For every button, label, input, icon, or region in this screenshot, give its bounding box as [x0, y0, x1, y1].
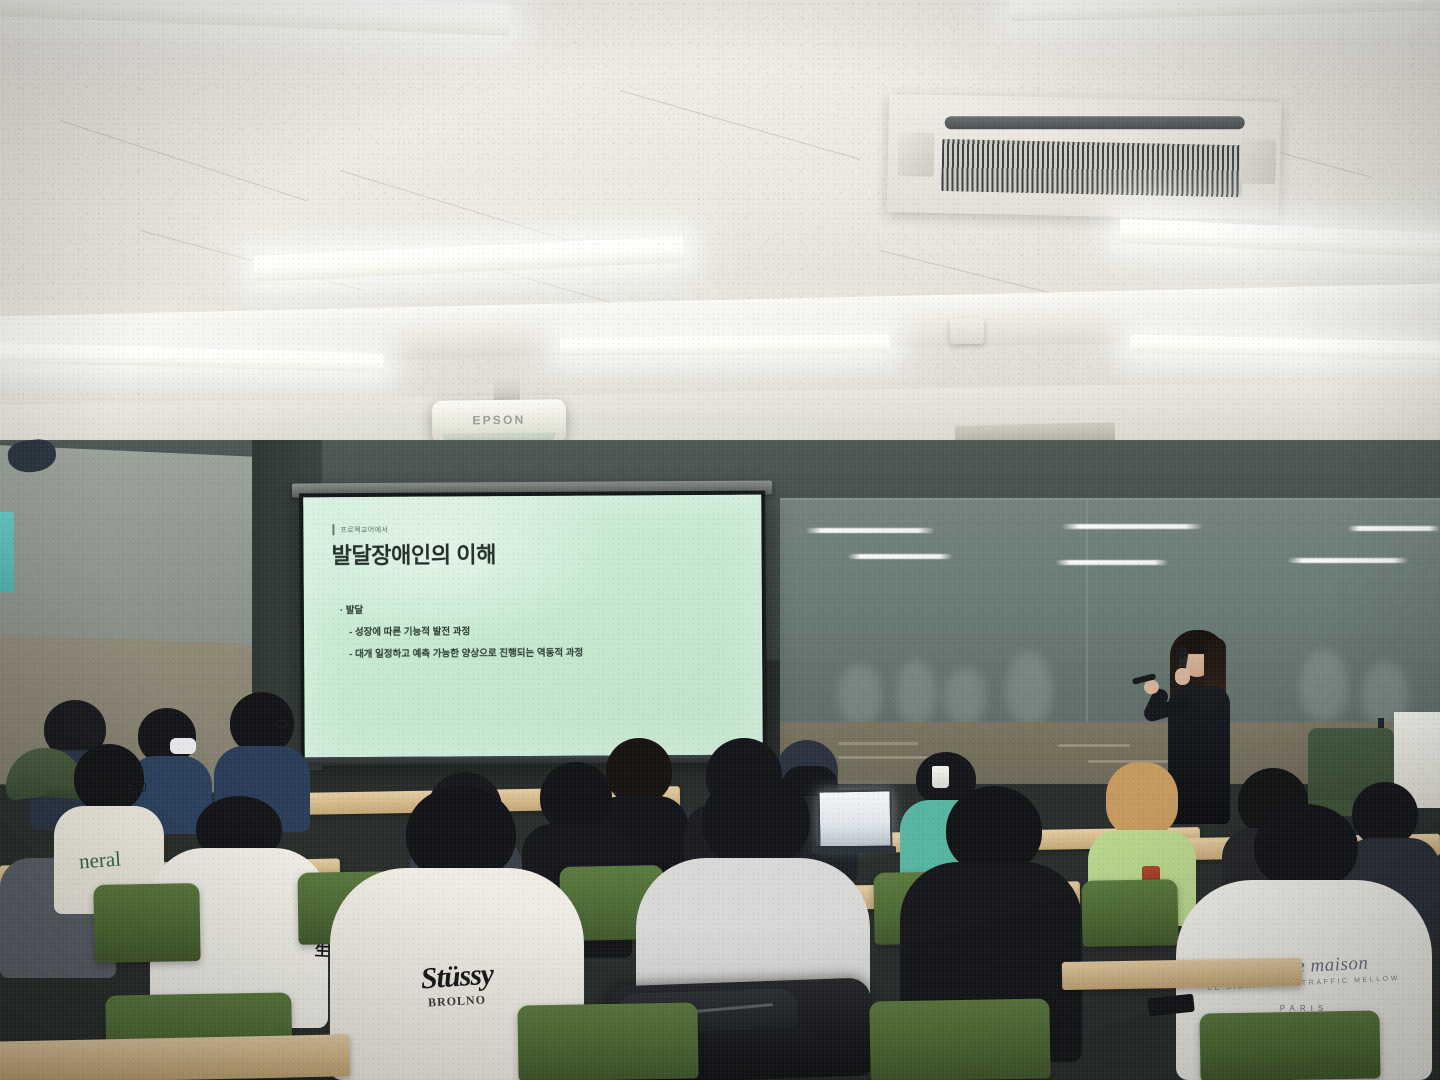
chair: [869, 998, 1050, 1080]
student-head: [1106, 762, 1178, 836]
slide-surface: 프로젝교어에서 발달장애인의 이해 · 발달 - 성장에 따른 기능적 발전 과…: [303, 495, 763, 758]
wall-sign: [0, 512, 14, 593]
slide-kicker-bar: [332, 524, 334, 535]
desk: [0, 1034, 350, 1080]
list-item: neral: [54, 744, 164, 904]
slide-bullet: · 발달: [340, 601, 583, 616]
chair: [93, 883, 200, 963]
bullet-text: 대개 일정하고 예측 가능한 양상으로 진행되는 역동적 과정: [355, 648, 583, 660]
slide-title: 발달장애인의 이해: [331, 537, 496, 570]
desk: [1062, 958, 1302, 990]
bullet-text: 발달: [346, 605, 364, 616]
ac-louver: [945, 116, 1245, 129]
glasses-icon: [276, 720, 288, 728]
shirt-graphic-text: Stüssy: [329, 951, 585, 1003]
lecture-hall-photo: EPSON 프로젝교어에서 발달장애인의 이해: [0, 0, 1440, 1080]
glasses-icon: [130, 782, 146, 792]
chair: [1199, 1010, 1380, 1080]
paper-cup: [932, 766, 949, 788]
reflection-silhouette: [896, 660, 936, 724]
reflected-ceiling-light: [1062, 524, 1202, 529]
slide-bullet-list: · 발달 - 성장에 따른 기능적 발전 과정 - 대개 일정하고 예측 가능한…: [340, 601, 583, 668]
ceiling-sensor: [950, 318, 984, 345]
ceiling-ac-cassette: [887, 94, 1281, 220]
face-mask: [170, 738, 196, 754]
bullet-text: 성장에 따른 기능적 발전 과정: [355, 626, 471, 638]
reflection-silhouette: [1300, 650, 1348, 720]
bullet-marker: -: [349, 649, 352, 660]
presenter-hand-mic: [1175, 668, 1190, 685]
reflection-silhouette: [944, 668, 986, 724]
reflected-ceiling-light: [1348, 526, 1440, 531]
dado-line: [1058, 744, 1130, 747]
student-head: [702, 772, 810, 868]
ac-grille: [941, 139, 1242, 197]
ceiling-light-fixture: [560, 334, 890, 355]
bullet-marker: -: [349, 627, 352, 638]
student-head: [1254, 804, 1358, 890]
student-head: [74, 744, 144, 812]
projection-screen: 프로젝교어에서 발달장애인의 이해 · 발달 - 성장에 따른 기능적 발전 과…: [299, 491, 767, 762]
projector-brand-label: EPSON: [432, 412, 566, 428]
chair: [517, 1002, 698, 1080]
reflection-silhouette: [1006, 652, 1052, 724]
slide-kicker: 프로젝교어에서: [332, 524, 388, 535]
reflected-ceiling-light: [1288, 558, 1408, 563]
microphone-head: [1176, 646, 1188, 658]
shirt-graphic-text: neral: [35, 844, 164, 878]
chair: [1081, 879, 1178, 947]
slide-kicker-text: 프로젝교어에서: [340, 524, 388, 534]
reflection-silhouette: [838, 664, 882, 724]
student-head: [946, 786, 1042, 874]
slide-bullet: - 성장에 따른 기능적 발전 과정: [349, 623, 583, 638]
bullet-marker: ·: [340, 605, 343, 616]
reflected-ceiling-light: [806, 528, 934, 533]
panel-divider: [1086, 498, 1088, 724]
slide-bullet: - 대개 일정하고 예측 가능한 양상으로 진행되는 역동적 과정: [349, 645, 583, 660]
reflected-ceiling-light: [1056, 560, 1168, 565]
reflected-ceiling-light: [848, 554, 952, 559]
